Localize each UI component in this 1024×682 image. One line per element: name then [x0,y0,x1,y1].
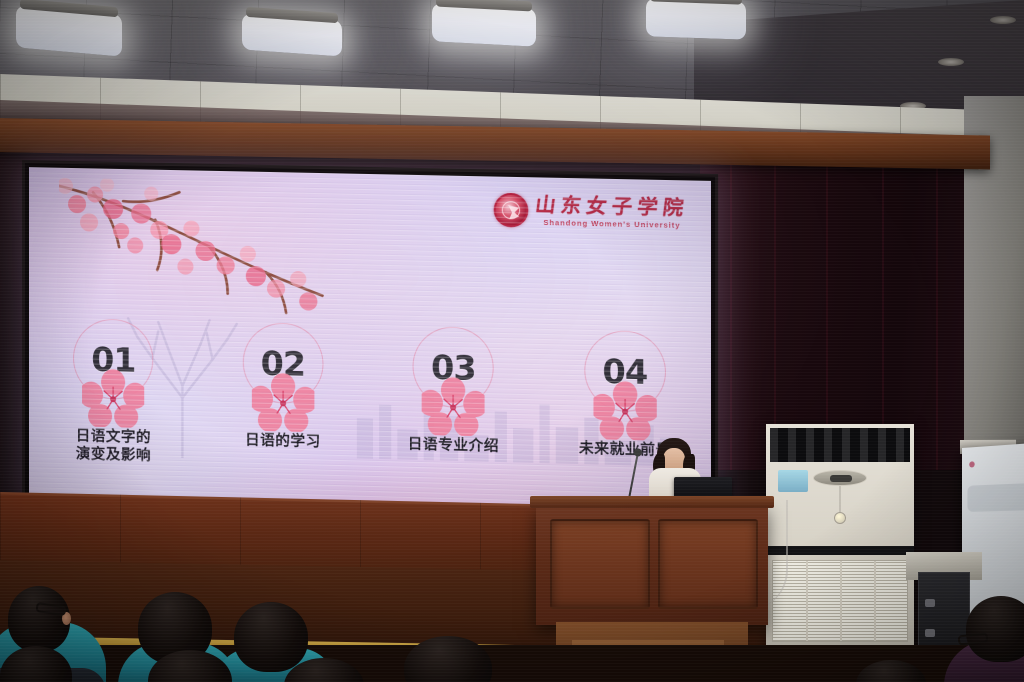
university-name-cn: 山东女子学院 [534,195,690,218]
section-label: 日语的学习 [217,432,348,453]
university-name-en: Shandong Women's University [535,218,688,230]
grille-divider [874,561,876,641]
university-logo: 山东女子学院 Shandong Women's University [494,193,689,231]
board-marker-dot [969,461,974,467]
wooden-podium [536,505,768,625]
slide-section-04: 04 [539,329,711,414]
podium-front-panel [550,519,650,609]
audience-member-right [966,596,1024,662]
floor-standing-air-conditioner [766,424,914,649]
ceiling-panel-light [432,3,536,46]
curtain-fold [882,140,884,470]
audience-member-glasses [8,586,70,652]
projection-screen: 山东女子学院 Shandong Women's University 01 [22,160,718,523]
ac-control-panel[interactable] [778,470,808,492]
board-smudge [967,483,1024,512]
lecture-hall-photo: 山东女子学院 Shandong Women's University 01 [0,0,1024,682]
podium-top-surface [530,496,774,508]
ac-divider-band [766,546,914,555]
slide-section-02: 02 [198,321,368,405]
curtain-fold [826,140,828,470]
grille-divider [840,561,842,641]
curtain-fold [774,140,776,470]
ceiling-panel-light [646,0,746,40]
ac-indicator-light [834,512,846,524]
case-latch[interactable] [925,629,935,637]
ac-brand-badge [813,470,867,486]
light-mount [650,0,742,5]
ceiling-downlight [938,58,964,66]
curtain-fold [936,140,938,470]
cherry-blossom-icon [422,376,485,436]
ceiling-downlight [990,16,1016,24]
curtain-fold [730,140,732,470]
case-latch[interactable] [925,599,935,607]
slide-sections: 01 [29,317,711,414]
light-mount [436,0,532,12]
section-label: 日语专业介绍 [387,436,519,457]
cherry-blossom-icon [593,381,656,441]
section-label: 日语文字的 演变及影响 [48,428,178,467]
audience-member-center [234,602,308,672]
cherry-blossom-icon [252,372,315,432]
ceiling-panel-light [242,14,342,57]
cherry-blossom-branch [59,178,341,335]
podium-front-panel [658,519,758,609]
presentation-slide: 山东女子学院 Shandong Women's University 01 [29,167,711,516]
stage-curtain [700,140,980,470]
ac-trim-line [840,486,841,514]
grille-divider [806,561,808,641]
university-seal-icon [494,193,529,228]
ac-intake-grille [772,560,908,642]
slide-section-01: 01 [29,317,198,401]
ac-top-vent [770,428,910,462]
cherry-blossom-icon [82,368,144,428]
slide-section-03: 03 [368,325,539,410]
